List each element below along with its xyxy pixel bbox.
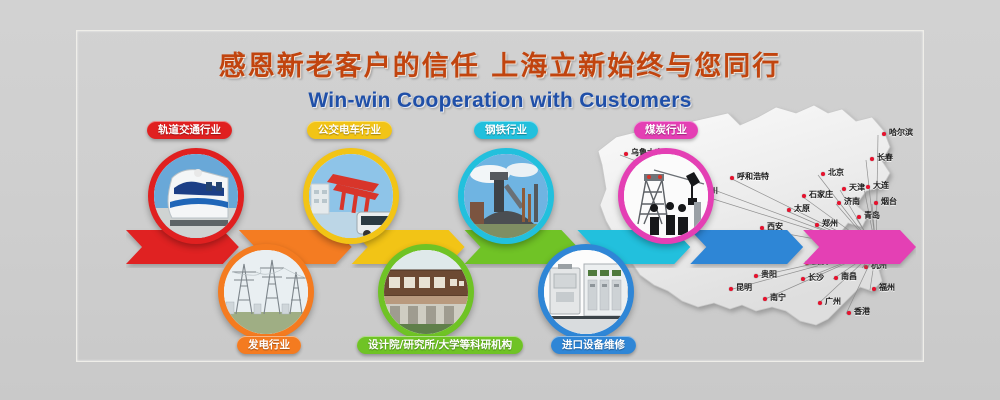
industry-circle-steel[interactable] <box>458 148 554 244</box>
city-dot <box>801 277 805 281</box>
label-research[interactable]: 设计院/研究所/大学等科研机构 <box>357 336 523 354</box>
city-dot <box>754 274 758 278</box>
city-dot <box>802 194 806 198</box>
city-dot <box>624 152 628 156</box>
import-photo <box>544 250 628 334</box>
city-label: 南宁 <box>770 292 786 303</box>
steel-mill-icon <box>464 154 548 238</box>
label-import[interactable]: 进口设备维修 <box>551 336 636 354</box>
label-coal[interactable]: 煤炭行业 <box>634 121 698 139</box>
industry-circle-research[interactable] <box>378 244 474 340</box>
city-dot <box>882 132 886 136</box>
city-dot <box>847 311 851 315</box>
city-label: 长沙 <box>808 272 824 283</box>
city-label: 济南 <box>844 196 860 207</box>
city-dot <box>763 297 767 301</box>
city-dot <box>815 223 819 227</box>
label-power[interactable]: 发电行业 <box>237 336 301 354</box>
ribbon-chevron <box>690 230 803 264</box>
city-label: 呼和浩特 <box>737 171 769 182</box>
industry-circle-import[interactable] <box>538 244 634 340</box>
city-label: 哈尔滨 <box>889 127 913 138</box>
rail-photo <box>154 154 238 238</box>
city-dot <box>842 187 846 191</box>
city-label: 天津 <box>849 182 865 193</box>
research-photo <box>384 250 468 334</box>
headline-chinese: 感恩新老客户的信任 上海立新始终与您同行 <box>0 44 1000 83</box>
city-dot <box>730 176 734 180</box>
coal-photo <box>624 154 708 238</box>
university-sign-icon <box>384 250 468 334</box>
city-label: 贵阳 <box>761 269 777 280</box>
city-label: 北京 <box>828 167 844 178</box>
city-dot <box>729 287 733 291</box>
city-label: 福州 <box>879 282 895 293</box>
coal-mine-icon <box>624 154 708 238</box>
city-dot <box>821 172 825 176</box>
label-rail[interactable]: 轨道交通行业 <box>147 121 232 139</box>
city-dot <box>837 201 841 205</box>
city-dot <box>874 201 878 205</box>
expo-pavilion-bus-icon <box>309 154 393 238</box>
high-speed-train-icon <box>154 154 238 238</box>
city-label: 广州 <box>825 296 841 307</box>
label-steel[interactable]: 钢铁行业 <box>474 121 538 139</box>
bus-photo <box>309 154 393 238</box>
switchgear-icon <box>544 250 628 334</box>
steel-photo <box>464 154 548 238</box>
industry-circle-rail[interactable] <box>148 148 244 244</box>
power-substation-icon <box>224 250 308 334</box>
city-dot <box>872 287 876 291</box>
city-label: 青岛 <box>864 210 880 221</box>
ribbon-chevron <box>803 230 916 264</box>
industry-circle-power[interactable] <box>218 244 314 340</box>
city-label: 大连 <box>873 180 889 191</box>
city-dot <box>834 276 838 280</box>
city-dot <box>866 185 870 189</box>
industry-circle-coal[interactable] <box>618 148 714 244</box>
industry-circle-bus[interactable] <box>303 148 399 244</box>
city-dot <box>870 157 874 161</box>
power-photo <box>224 250 308 334</box>
city-label: 昆明 <box>736 282 752 293</box>
label-bus[interactable]: 公交电车行业 <box>307 121 392 139</box>
city-label: 南昌 <box>841 271 857 282</box>
city-label: 香港 <box>854 306 870 317</box>
banner-root: 感恩新老客户的信任 上海立新始终与您同行 Win-win Cooperation… <box>0 0 1000 400</box>
city-dot <box>857 215 861 219</box>
city-label: 太原 <box>794 203 810 214</box>
city-label: 长春 <box>877 152 893 163</box>
city-label: 烟台 <box>881 196 897 207</box>
city-dot <box>787 208 791 212</box>
city-dot <box>818 301 822 305</box>
city-label: 石家庄 <box>809 189 833 200</box>
